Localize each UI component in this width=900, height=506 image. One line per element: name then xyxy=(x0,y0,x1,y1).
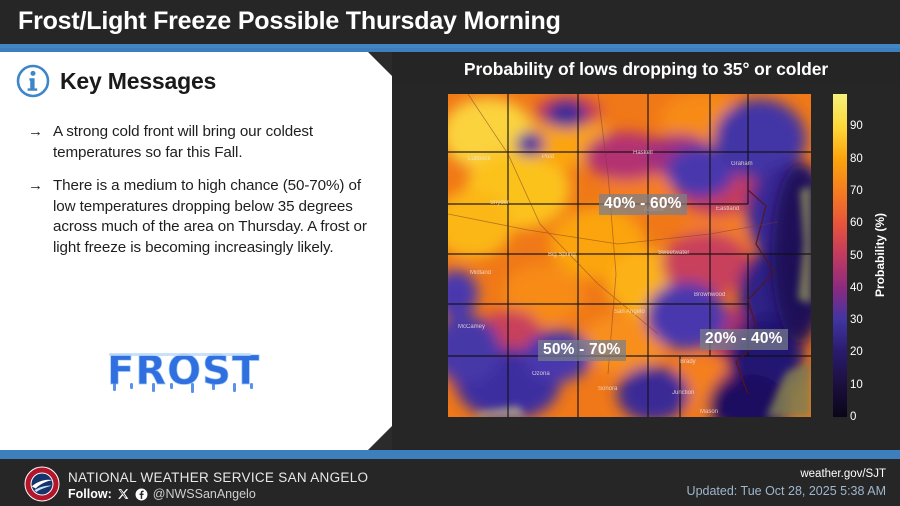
footer-office-name: NATIONAL WEATHER SERVICE SAN ANGELO xyxy=(68,470,368,485)
footer-updated-timestamp: Updated: Tue Oct 28, 2025 5:38 AM xyxy=(687,484,886,498)
nws-seal-icon xyxy=(24,466,60,502)
colorbar-segment xyxy=(833,126,847,158)
colorbar-segment xyxy=(833,94,847,126)
accent-bar-top xyxy=(0,44,900,52)
key-messages-header: Key Messages xyxy=(16,64,216,98)
map-figure: LubbockPostHaskellGrahamSnyderAbileneEas… xyxy=(392,86,900,450)
probability-map xyxy=(448,94,811,417)
x-twitter-icon[interactable] xyxy=(117,488,130,501)
colorbar-tick-label: 20 xyxy=(850,346,863,358)
footer-social-handle[interactable]: @NWSSanAngelo xyxy=(153,487,256,501)
key-messages-list: → A strong cold front will bring our col… xyxy=(28,122,374,271)
colorbar-segment xyxy=(833,223,847,255)
colorbar-segment xyxy=(833,255,847,287)
map-header: Probability of lows dropping to 35° or c… xyxy=(392,52,900,86)
slide-root: Frost/Light Freeze Possible Thursday Mor… xyxy=(0,0,900,506)
arrow-right-icon: → xyxy=(28,176,44,196)
key-messages-title: Key Messages xyxy=(60,68,216,95)
colorbar-tick-label: 50 xyxy=(850,250,863,262)
key-messages-panel: Key Messages → A strong cold front will … xyxy=(0,52,392,450)
frost-wordart: FROST xyxy=(104,350,274,398)
accent-bar-bottom xyxy=(0,450,900,459)
footer-website[interactable]: weather.gov/SJT xyxy=(800,468,886,480)
colorbar-tick-label: 10 xyxy=(850,379,863,391)
colorbar-segment xyxy=(833,320,847,352)
colorbar-axis-label-text: Probability (%) xyxy=(873,213,887,297)
page-title: Frost/Light Freeze Possible Thursday Mor… xyxy=(18,7,561,36)
list-item: → There is a medium to high chance (50-7… xyxy=(28,176,374,258)
colorbar-tick-label: 90 xyxy=(850,120,863,132)
arrow-right-icon: → xyxy=(28,122,44,142)
frost-ice-top xyxy=(109,353,251,356)
list-item-text: A strong cold front will bring our colde… xyxy=(53,122,374,163)
frost-wordart-text: FROST xyxy=(107,350,260,394)
colorbar-segment xyxy=(833,159,847,191)
colorbar-segment xyxy=(833,385,847,417)
colorbar-axis-label: Probability (%) xyxy=(870,94,890,417)
colorbar-tick-label: 70 xyxy=(850,185,863,197)
list-item-text: There is a medium to high chance (50-70%… xyxy=(53,176,374,258)
facebook-icon[interactable] xyxy=(135,488,148,501)
colorbar-tick-label: 30 xyxy=(850,314,863,326)
colorbar-tick-label: 40 xyxy=(850,282,863,294)
info-circle-icon xyxy=(16,64,50,98)
colorbar-tick-label: 0 xyxy=(850,411,856,423)
colorbar xyxy=(833,94,847,417)
probability-annotation-20-40: 20% - 40% xyxy=(700,329,788,350)
probability-annotation-40-60: 40% - 60% xyxy=(599,194,687,215)
colorbar-tick-label: 60 xyxy=(850,217,863,229)
footer-follow: Follow: @NWSSanAngelo xyxy=(68,487,256,501)
title-bar: Frost/Light Freeze Possible Thursday Mor… xyxy=(0,0,900,44)
map-panel: Probability of lows dropping to 35° or c… xyxy=(392,52,900,450)
colorbar-segment xyxy=(833,191,847,223)
accent-bar-top-highlight xyxy=(0,44,900,48)
colorbar-segment xyxy=(833,352,847,384)
follow-label: Follow: xyxy=(68,487,112,501)
colorbar-segment xyxy=(833,288,847,320)
list-item: → A strong cold front will bring our col… xyxy=(28,122,374,163)
colorbar-tick-label: 80 xyxy=(850,153,863,165)
map-title: Probability of lows dropping to 35° or c… xyxy=(464,59,828,80)
probability-annotation-50-70: 50% - 70% xyxy=(538,340,626,361)
